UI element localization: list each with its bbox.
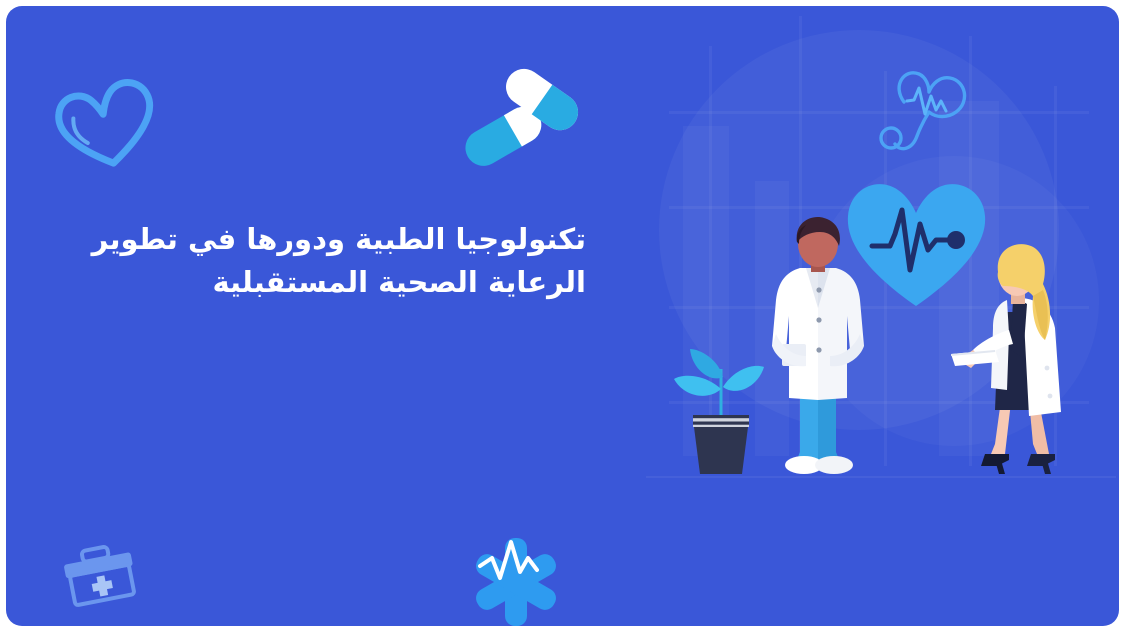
star-of-life-icon [466, 534, 566, 626]
slide-canvas: تكنولوجيا الطبية ودورها في تطوير الرعاية… [6, 6, 1119, 626]
female-doctor-icon [951, 238, 1086, 478]
medical-team-illustration [646, 146, 1116, 496]
male-doctor-icon [756, 216, 876, 478]
heart-outline-icon [48, 68, 163, 178]
slide-title-line-1: تكنولوجيا الطبية ودورها في تطوير [66, 218, 586, 261]
first-aid-kit-icon [58, 538, 144, 610]
pills-capsule-icon [454, 61, 579, 176]
clipboard-icon [951, 350, 999, 366]
slide-title-line-2: الرعاية الصحية المستقبلية [66, 261, 586, 304]
slide-title: تكنولوجيا الطبية ودورها في تطوير الرعاية… [66, 218, 586, 304]
